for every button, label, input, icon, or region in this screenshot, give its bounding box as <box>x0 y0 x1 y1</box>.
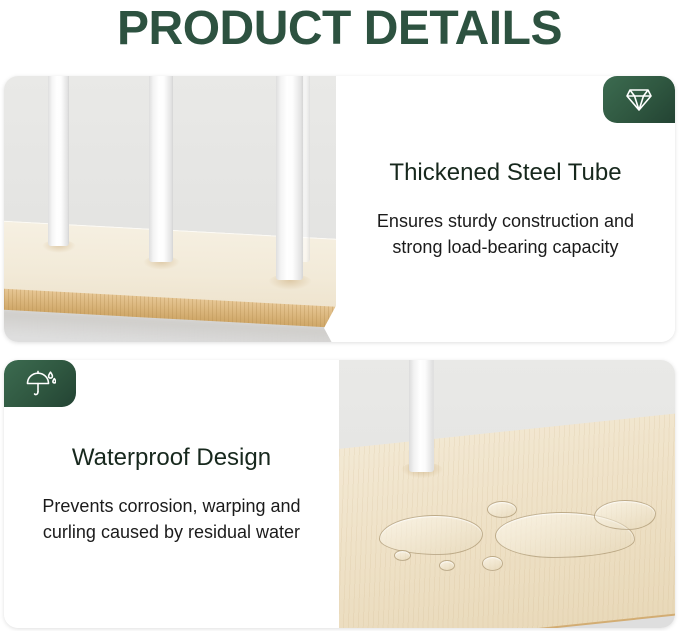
feature-image-waterproof <box>339 360 675 628</box>
water-droplet <box>594 500 656 530</box>
diamond-icon <box>625 87 653 113</box>
water-droplet <box>487 501 517 518</box>
feature-badge-waterproof <box>4 360 76 407</box>
water-droplet <box>379 515 483 555</box>
product-details-page: PRODUCT DETAILS Thickened Steel Tube Ens… <box>0 0 679 631</box>
feature-card-steel-tube: Thickened Steel Tube Ensures sturdy cons… <box>4 76 675 342</box>
steel-tube-leg <box>48 76 69 246</box>
feature-description: Prevents corrosion, warping and curling … <box>32 493 312 545</box>
water-droplet <box>439 560 455 571</box>
steel-tube-leg <box>149 76 173 262</box>
steel-tube-leg <box>409 360 434 472</box>
feature-description: Ensures sturdy construction and strong l… <box>366 208 646 260</box>
feature-title: Thickened Steel Tube <box>389 158 621 188</box>
steel-tube-leg <box>276 76 303 280</box>
water-droplet <box>482 556 503 571</box>
water-droplet <box>394 550 411 561</box>
feature-image-steel-tube <box>4 76 336 342</box>
feature-badge-steel-tube <box>603 76 675 123</box>
feature-title: Waterproof Design <box>72 443 271 473</box>
umbrella-rain-icon <box>24 370 56 398</box>
page-title: PRODUCT DETAILS <box>0 0 679 62</box>
feature-card-waterproof: Waterproof Design Prevents corrosion, wa… <box>4 360 675 628</box>
